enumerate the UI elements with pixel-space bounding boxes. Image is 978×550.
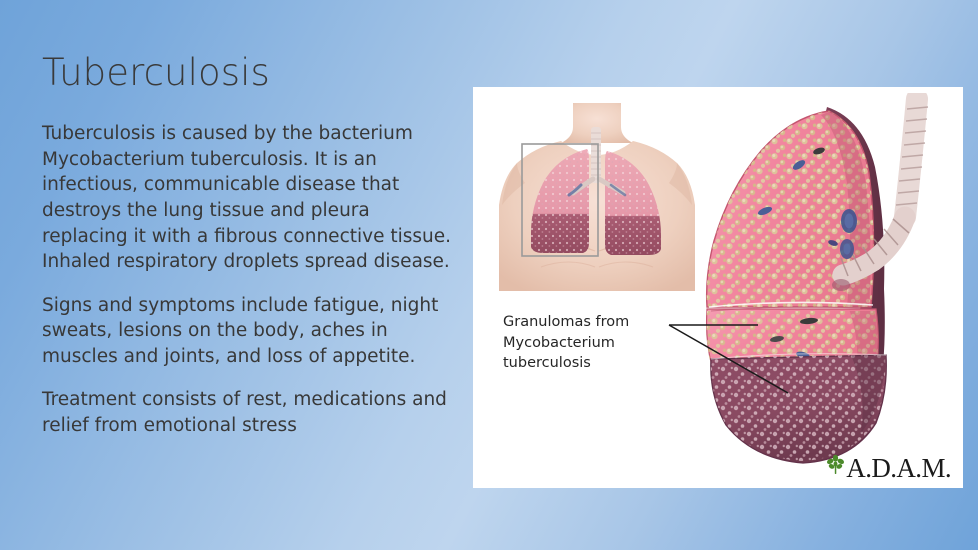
- torso-thumbnail-illustration: [495, 101, 700, 291]
- body-paragraph-2: Signs and symptoms include fatigue, nigh…: [42, 293, 457, 370]
- page-title: Tuberculosis: [42, 52, 462, 93]
- medical-illustration-panel: Granulomas from Mycobacterium tuberculos…: [473, 87, 963, 488]
- body-paragraph-3: Treatment consists of rest, medications …: [42, 387, 457, 438]
- figure-caption: Granulomas from Mycobacterium tuberculos…: [503, 312, 683, 374]
- lung-cross-section-illustration: [681, 93, 956, 478]
- body-paragraph-1: Tuberculosis is caused by the bacterium …: [42, 121, 457, 274]
- leaf-icon: [826, 454, 845, 479]
- caption-line-1: Granulomas from: [503, 312, 683, 333]
- adam-logo: A.D.A.M.: [826, 452, 951, 482]
- slide-canvas: Tuberculosis Tuberculosis is caused by t…: [0, 0, 978, 550]
- text-content-column: Tuberculosis Tuberculosis is caused by t…: [42, 52, 462, 451]
- caption-line-2: Mycobacterium: [503, 333, 683, 354]
- adam-logo-text: A.D.A.M.: [846, 455, 951, 482]
- caption-line-3: tuberculosis: [503, 353, 683, 374]
